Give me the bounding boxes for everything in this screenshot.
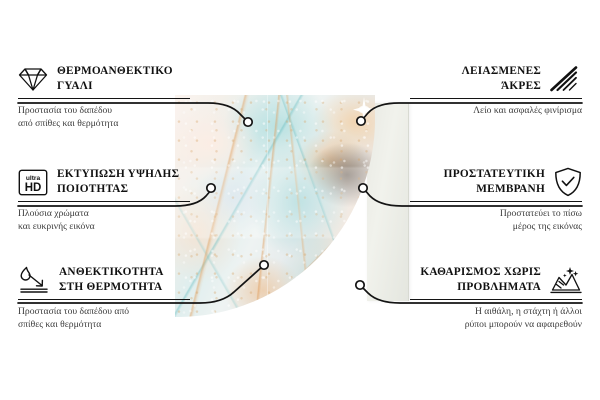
feature-description: Προστατεύει το πίσω μέρος της εικόνας: [410, 207, 582, 233]
feature-easy-cleaning: ΚΑΘΑΡΙΣΜΟΣ ΧΩΡΙΣ ΠΡΟΒΛΗΜΑΤΑ Η αιθάλη, η …: [410, 265, 582, 332]
feature-polished-edges: ΛΕΙΑΣΜΕΝΕΣ ΆΚΡΕΣ Λείο και ασφαλές φινίρι…: [410, 64, 582, 117]
sparkle-clean-icon: [550, 266, 582, 294]
feature-title: ΕΚΤΥΠΩΣΗ ΥΨΗΛΗΣ ΠΟΙΟΤΗΤΑΣ: [57, 167, 179, 197]
feature-header: ΠΡΟΣΤΑΤΕΥΤΙΚΗ ΜΕΜΒΡΑΝΗ: [410, 167, 582, 197]
feature-title: ΛΕΙΑΣΜΕΝΕΣ ΆΚΡΕΣ: [462, 64, 541, 94]
glass-seam-line: [267, 95, 268, 317]
feature-header: ΛΕΙΑΣΜΕΝΕΣ ΆΚΡΕΣ: [410, 64, 582, 94]
glass-panel-front: [175, 95, 375, 317]
feature-header: ΘΕΡΜΟΑΝΘΕΚΤΙΚΟ ΓΥΑΛΙ: [18, 64, 190, 94]
feature-heat-resistant-glass: ΘΕΡΜΟΑΝΘΕΚΤΙΚΟ ΓΥΑΛΙ Προστασία του δαπέδ…: [18, 64, 190, 131]
ultra-hd-icon-large-label: HD: [25, 182, 42, 194]
feature-divider: [18, 98, 190, 99]
infographic-canvas: ΘΕΡΜΟΑΝΘΕΚΤΙΚΟ ΓΥΑΛΙ Προστασία του δαπέδ…: [0, 0, 600, 400]
feature-description: Η αιθάλη, η στάχτη ή άλλοι ρύποι μπορούν…: [410, 305, 582, 331]
shield-check-icon: [554, 167, 582, 197]
feature-description: Προστασία του δαπέδου από σπίθες και θερ…: [18, 104, 190, 130]
marble-artwork-speckle: [175, 95, 375, 317]
feature-high-quality-print: ultra HD ΕΚΤΥΠΩΣΗ ΥΨΗΛΗΣ ΠΟΙΟΤΗΤΑΣ Πλούσ…: [18, 167, 190, 234]
feature-heat-durability: ΑΝΘΕΚΤΙΚΟΤΗΤΑ ΣΤΗ ΘΕΡΜΟΤΗΤΑ Προστασία το…: [18, 265, 190, 332]
feature-title: ΘΕΡΜΟΑΝΘΕΚΤΙΚΟ ΓΥΑΛΙ: [57, 64, 173, 94]
feature-description: Προστασία του δαπέδου από σπίθες και θερ…: [18, 305, 190, 331]
feature-header: ΚΑΘΑΡΙΣΜΟΣ ΧΩΡΙΣ ΠΡΟΒΛΗΜΑΤΑ: [410, 265, 582, 295]
feature-divider: [410, 201, 582, 202]
feature-divider: [18, 201, 190, 202]
ultra-hd-icon: ultra HD: [18, 169, 48, 196]
feature-title: ΚΑΘΑΡΙΣΜΟΣ ΧΩΡΙΣ ΠΡΟΒΛΗΜΑΤΑ: [420, 265, 541, 295]
diamond-icon: [18, 66, 48, 92]
feature-header: ΑΝΘΕΚΤΙΚΟΤΗΤΑ ΣΤΗ ΘΕΡΜΟΤΗΤΑ: [18, 265, 190, 295]
polished-edges-icon: [550, 66, 582, 92]
feature-header: ultra HD ΕΚΤΥΠΩΣΗ ΥΨΗΛΗΣ ΠΟΙΟΤΗΤΑΣ: [18, 167, 190, 197]
feature-divider: [18, 299, 190, 300]
feature-divider: [410, 98, 582, 99]
product-image: [175, 95, 410, 325]
feature-divider: [410, 299, 582, 300]
feature-title: ΠΡΟΣΤΑΤΕΥΤΙΚΗ ΜΕΜΒΡΑΝΗ: [444, 167, 545, 197]
flame-heat-resistance-icon: [18, 266, 50, 294]
feature-protective-membrane: ΠΡΟΣΤΑΤΕΥΤΙΚΗ ΜΕΜΒΡΑΝΗ Προστατεύει το πί…: [410, 167, 582, 234]
feature-description: Λείο και ασφαλές φινίρισμα: [410, 104, 582, 117]
ultra-hd-icon-small-label: ultra: [26, 175, 41, 182]
feature-title: ΑΝΘΕΚΤΙΚΟΤΗΤΑ ΣΤΗ ΘΕΡΜΟΤΗΤΑ: [59, 265, 164, 295]
feature-description: Πλούσια χρώματα και ευκρινής εικόνα: [18, 207, 190, 233]
